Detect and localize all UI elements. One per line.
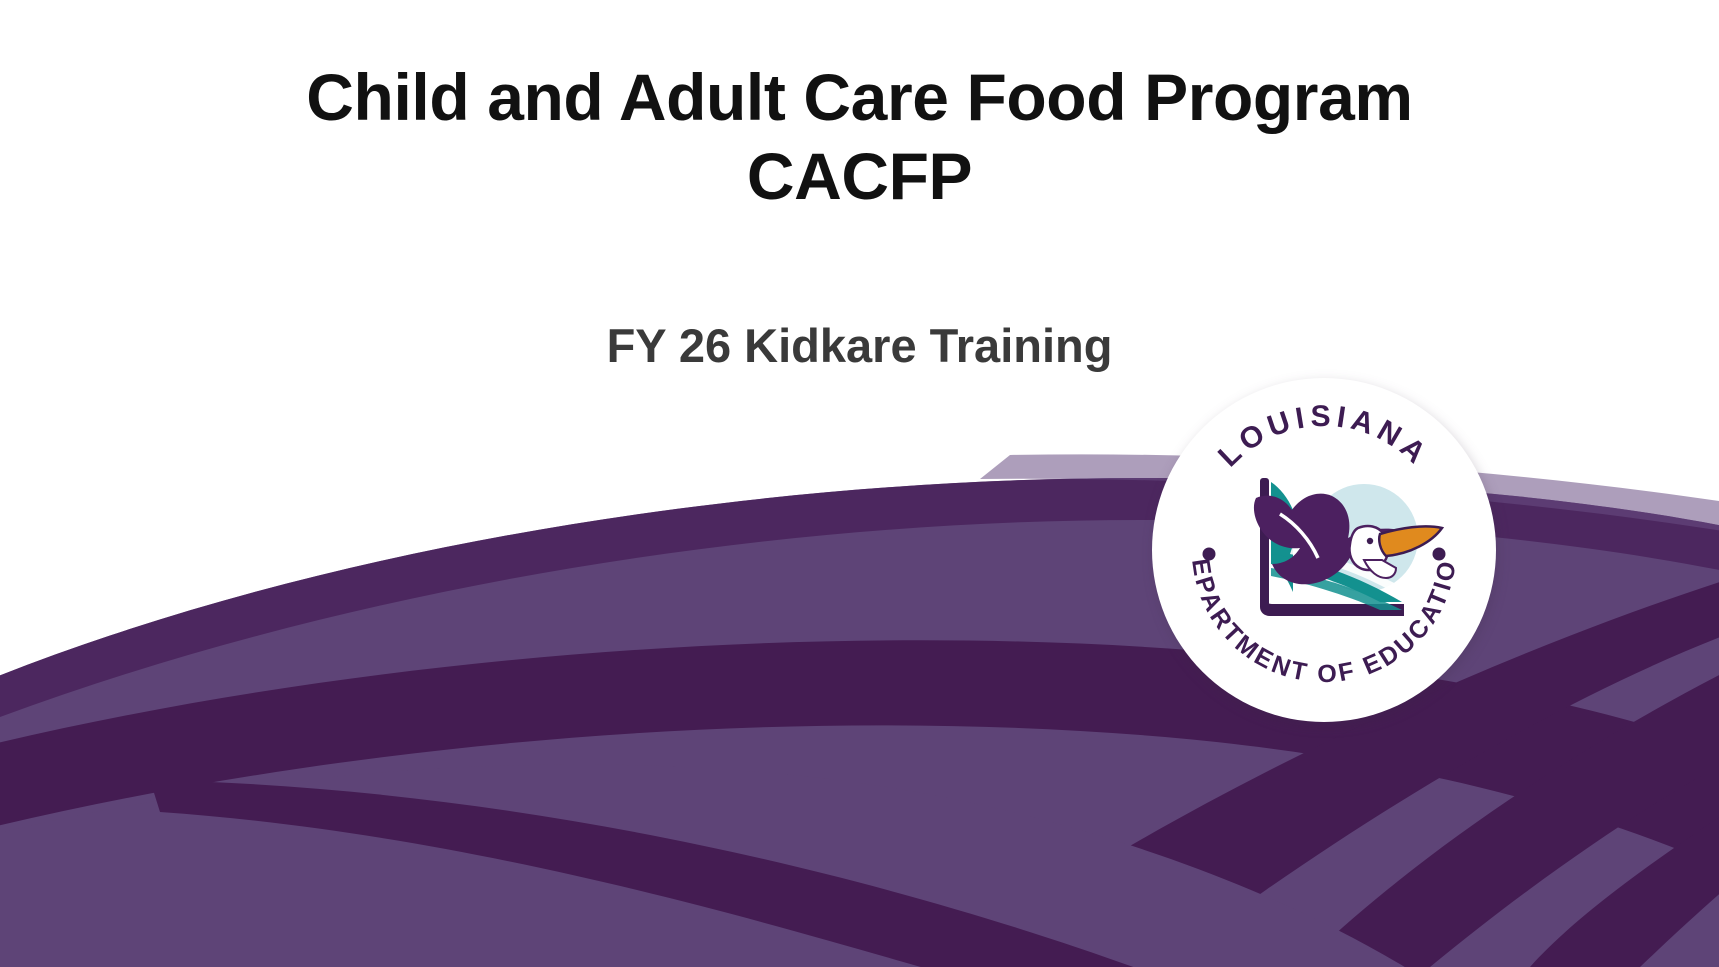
page-subtitle: FY 26 Kidkare Training [90, 318, 1629, 374]
title-container: Child and Adult Care Food Program CACFP [0, 58, 1719, 216]
seal-dot-right-icon [1433, 548, 1446, 561]
louisiana-department-of-education-seal: LOUISIANA DEPARTMENT OF EDUCATION [1152, 378, 1496, 722]
pelican-eye-icon [1367, 538, 1373, 544]
presentation-slide: Child and Adult Care Food Program CACFP … [0, 0, 1719, 967]
page-title: Child and Adult Care Food Program CACFP [90, 58, 1629, 216]
seal-icon: LOUISIANA DEPARTMENT OF EDUCATION [1152, 378, 1496, 722]
subtitle-container: FY 26 Kidkare Training [0, 318, 1719, 374]
seal-dot-left-icon [1203, 548, 1216, 561]
